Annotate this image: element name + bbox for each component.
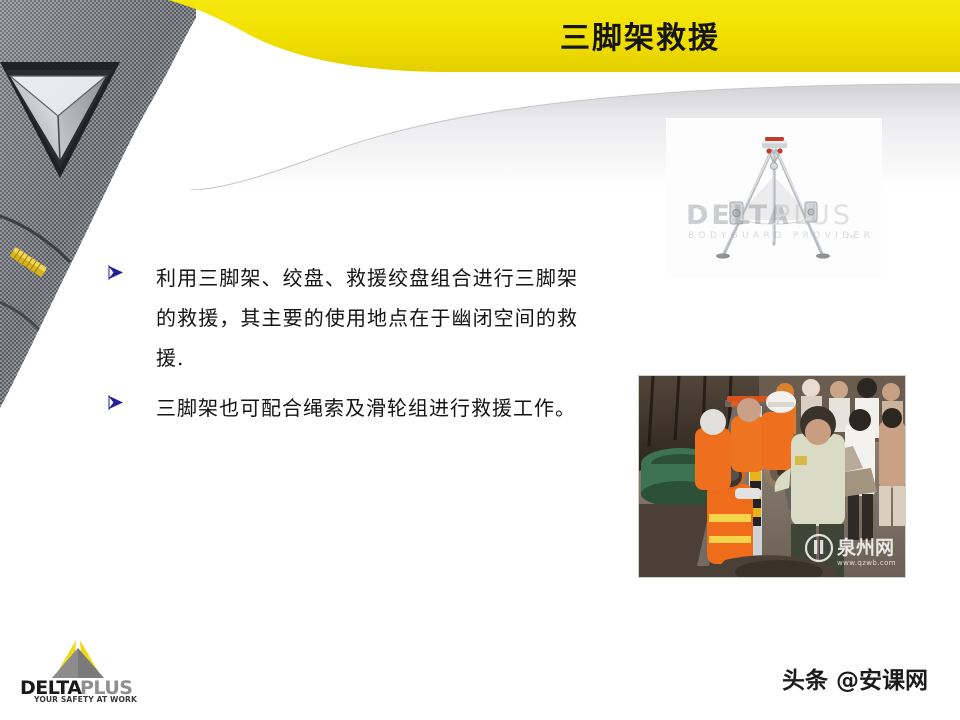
confined-space-rescue-illustration: 泉州网 www.qzwb.com <box>639 376 905 577</box>
svg-text:泉州网: 泉州网 <box>836 536 894 559</box>
list-item-text: 利用三脚架、绞盘、救援绞盘组合进行三脚架的救援，其主要的使用地点在于幽闭空间的救… <box>156 258 578 378</box>
rescue-scene-photo: 泉州网 www.qzwb.com <box>638 375 906 578</box>
list-item: 三脚架也可配合绳索及滑轮组进行救援工作。 <box>108 388 578 428</box>
tripod-product-photo: DELTA PLUS BODYGUARD PROVIDER TM <box>666 118 882 278</box>
rescue-tripod-illustration: DELTA PLUS BODYGUARD PROVIDER TM <box>666 118 882 278</box>
svg-text:www.qzwb.com: www.qzwb.com <box>837 559 896 567</box>
svg-text:PLUS: PLUS <box>774 200 853 231</box>
page-title: 三脚架救援 <box>400 16 880 62</box>
arrow-bullet-icon <box>108 388 156 411</box>
logo-tagline-text: YOUR SAFETY AT WORK <box>33 695 138 704</box>
list-item-text: 三脚架也可配合绳索及滑轮组进行救援工作。 <box>156 388 578 428</box>
bullet-list: 利用三脚架、绞盘、救援绞盘组合进行三脚架的救援，其主要的使用地点在于幽闭空间的救… <box>108 258 578 438</box>
delta-plus-logo: DELTA PLUS YOUR SAFETY AT WORK <box>14 638 170 704</box>
delta-plus-logo-mark: DELTA PLUS YOUR SAFETY AT WORK <box>14 638 170 704</box>
source-watermark: 头条 @安课网 <box>782 664 948 698</box>
svg-text:TM: TM <box>845 234 855 241</box>
tripod-watermark: DELTA PLUS BODYGUARD PROVIDER TM <box>686 200 874 241</box>
slide-canvas: 三脚架救援 利用三脚架、绞盘、救援绞盘组合进行三脚架的救援，其主要的使用地点在于… <box>0 0 960 720</box>
arrow-bullet-icon <box>108 258 156 281</box>
list-item: 利用三脚架、绞盘、救援绞盘组合进行三脚架的救援，其主要的使用地点在于幽闭空间的救… <box>108 258 578 378</box>
delta-chevron-icon <box>52 640 104 678</box>
